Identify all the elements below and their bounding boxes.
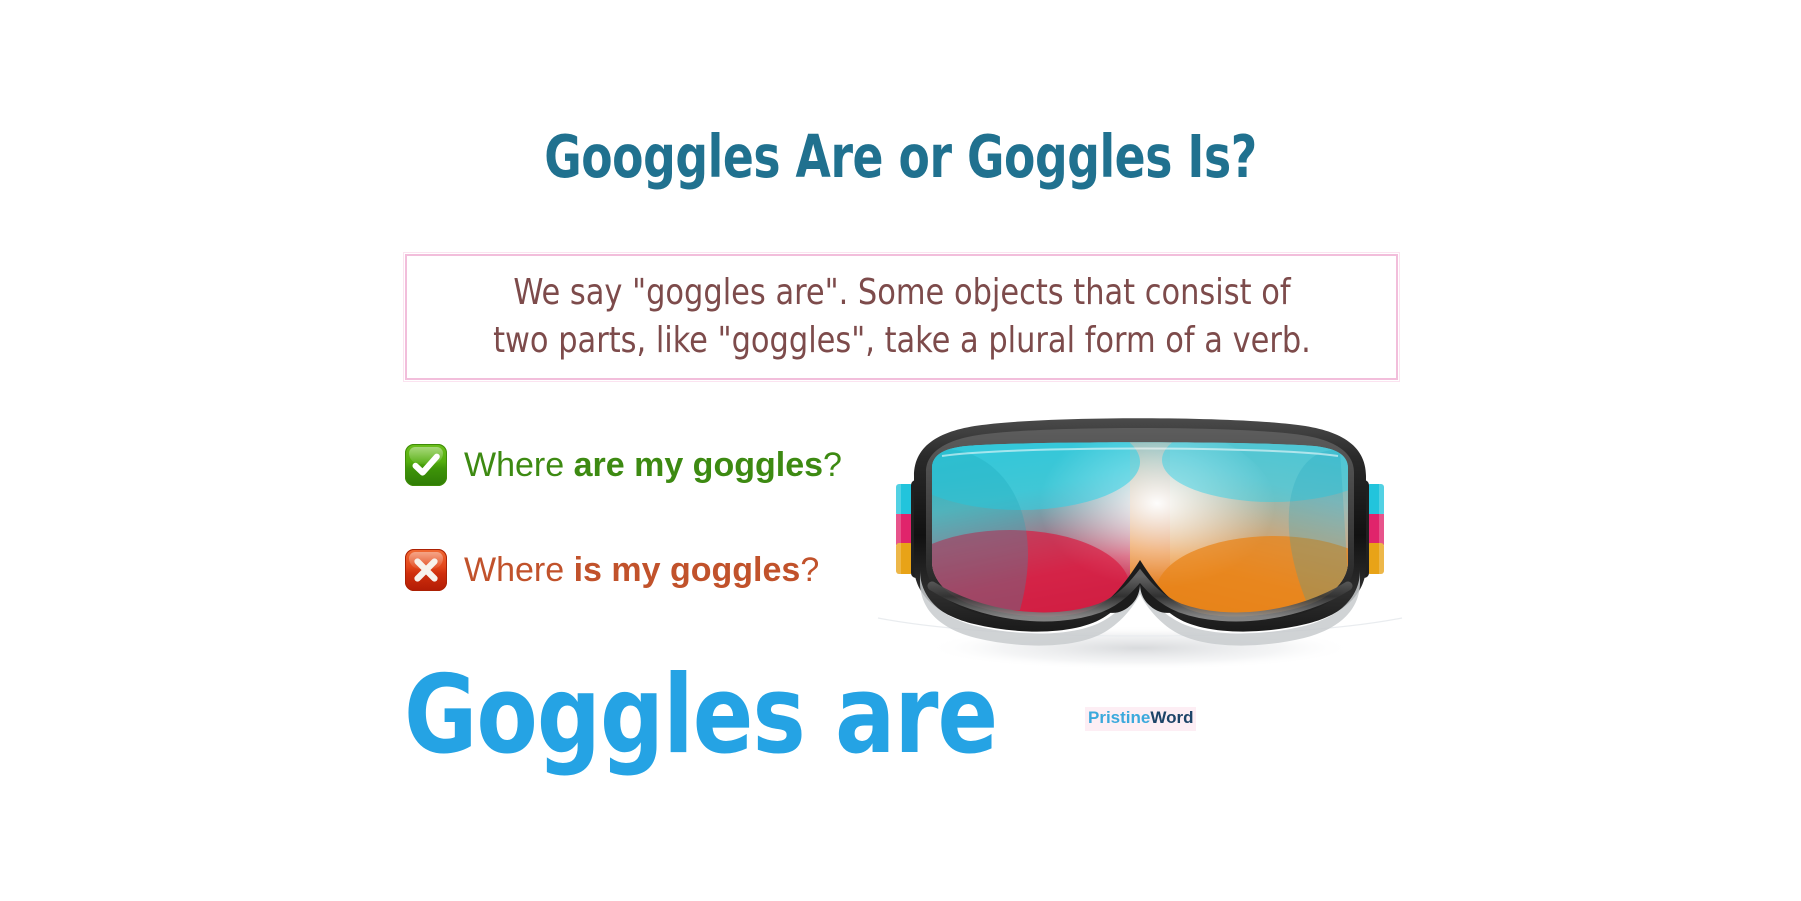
page-title: Googgles Are or Goggles Is? [126,126,1675,188]
example-incorrect: Where is my goggles? [405,549,819,591]
example-incorrect-emphasis: is my goggles [574,551,801,589]
example-incorrect-suffix: ? [800,551,819,589]
cross-mark-icon [405,549,447,591]
example-correct: Where are my goggles? [405,444,842,486]
definition-text: We say "goggles are". Some objects that … [479,269,1323,365]
definition-line-2: two parts, like "goggles", take a plural… [493,320,1311,361]
watermark-part-1: Pristine [1088,708,1150,727]
definition-line-1: We say "goggles are". Some objects that … [513,272,1290,313]
watermark-part-2: Word [1150,708,1193,727]
watermark-logo: PristineWord [1085,707,1196,731]
check-mark-icon [405,444,447,486]
example-incorrect-text: Where is my goggles? [464,550,819,590]
example-correct-emphasis: are my goggles [574,446,823,484]
example-correct-prefix: Where [464,446,574,484]
example-correct-text: Where are my goggles? [464,445,842,485]
example-incorrect-prefix: Where [464,551,574,589]
page-root: Googgles Are or Goggles Is? We say "gogg… [0,0,1801,901]
definition-box: We say "goggles are". Some objects that … [405,254,1398,380]
example-correct-suffix: ? [823,446,842,484]
ski-goggles-image [870,410,1410,685]
